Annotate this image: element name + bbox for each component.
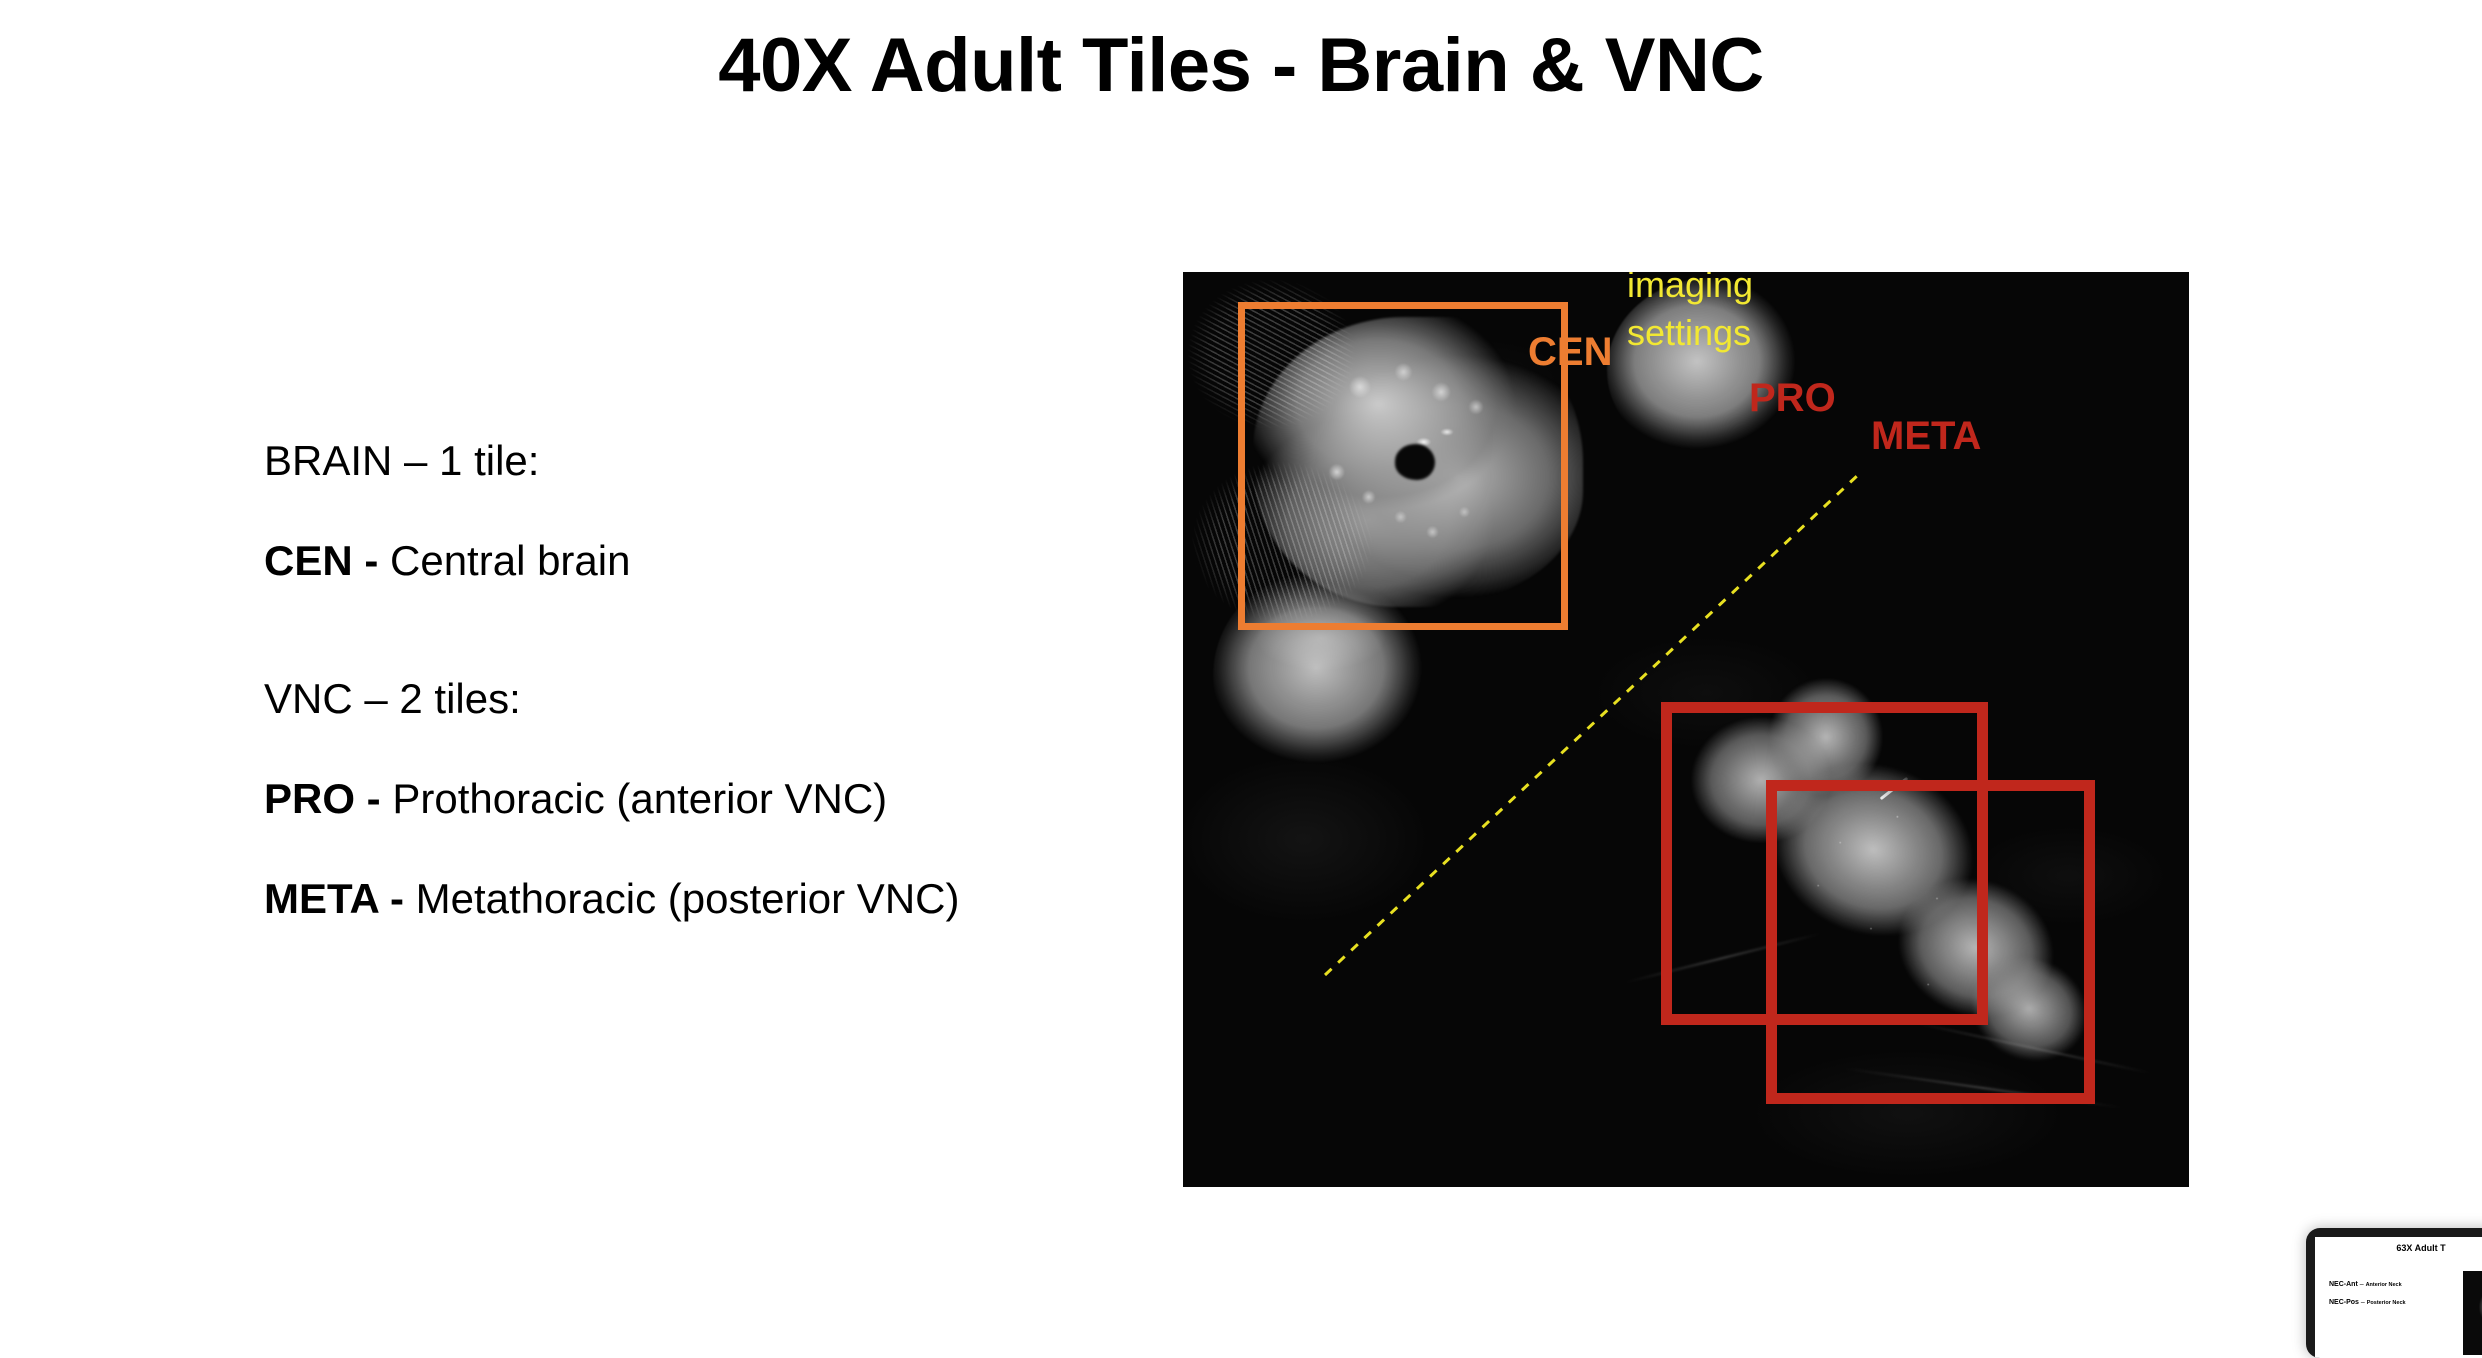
next-slide-thumbnail-page: 63X Adult T NEC-Ant – Anterior Neck NEC-… <box>2315 1237 2482 1358</box>
next-slide-thumbnail-title: 63X Adult T <box>2315 1243 2482 1253</box>
legend-item-cen-code: CEN - <box>264 537 378 584</box>
micrograph-image: CEN PRO META Separate imaging settings <box>1183 272 2189 1187</box>
thumb-row-description: Anterior Neck <box>2366 1282 2402 1288</box>
slide-canvas: 40X Adult Tiles - Brain & VNC BRAIN – 1 … <box>0 0 2482 1296</box>
spacer <box>264 482 1124 540</box>
legend-item-cen-description: Central brain <box>378 537 630 584</box>
next-slide-thumbnail-image <box>2463 1271 2482 1355</box>
brain-heading: BRAIN – 1 tile: <box>264 440 1124 482</box>
legend-item-pro: PRO - Prothoracic (anterior VNC) <box>264 778 1124 820</box>
label-cen: CEN <box>1528 332 1612 372</box>
next-slide-thumbnail[interactable]: 63X Adult T NEC-Ant – Anterior Neck NEC-… <box>2306 1228 2482 1358</box>
thumb-row-dash: – <box>2358 1281 2366 1288</box>
thumb-row-code: NEC-Ant <box>2329 1281 2358 1288</box>
separate-imaging-settings-note: Separate imaging settings <box>1627 272 1827 358</box>
next-slide-thumbnail-row: NEC-Ant – Anterior Neck <box>2329 1281 2402 1288</box>
legend-item-meta-code: META - <box>264 875 404 922</box>
thumb-row-description: Posterior Neck <box>2367 1300 2406 1306</box>
legend-item-cen: CEN - Central brain <box>264 540 1124 582</box>
tile-box-meta[interactable] <box>1766 780 2095 1104</box>
spacer <box>264 582 1124 678</box>
legend-item-meta: META - Metathoracic (posterior VNC) <box>264 878 1124 920</box>
next-slide-thumbnail-row: NEC-Pos – Posterior Neck <box>2329 1299 2406 1306</box>
legend-item-pro-description: Prothoracic (anterior VNC) <box>381 775 887 822</box>
note-line-3: settings <box>1627 309 1827 358</box>
legend-item-pro-code: PRO - <box>264 775 381 822</box>
label-meta: META <box>1871 416 1981 456</box>
spacer <box>264 820 1124 878</box>
legend-item-meta-description: Metathoracic (posterior VNC) <box>404 875 960 922</box>
label-pro: PRO <box>1749 378 1836 418</box>
spacer <box>264 720 1124 778</box>
legend-text-block: BRAIN – 1 tile: CEN - Central brain VNC … <box>264 440 1124 920</box>
thumb-row-code: NEC-Pos <box>2329 1299 2359 1306</box>
note-line-2: imaging <box>1627 272 1827 309</box>
micrograph-panel: CEN PRO META Separate imaging settings <box>1183 272 2189 1187</box>
next-slide-thumbnail-tissue <box>2477 1289 2482 1329</box>
thumb-row-dash: – <box>2359 1299 2367 1306</box>
vnc-heading: VNC – 2 tiles: <box>264 678 1124 720</box>
page-title: 40X Adult Tiles - Brain & VNC <box>0 24 2482 108</box>
tile-box-cen[interactable] <box>1238 302 1568 630</box>
